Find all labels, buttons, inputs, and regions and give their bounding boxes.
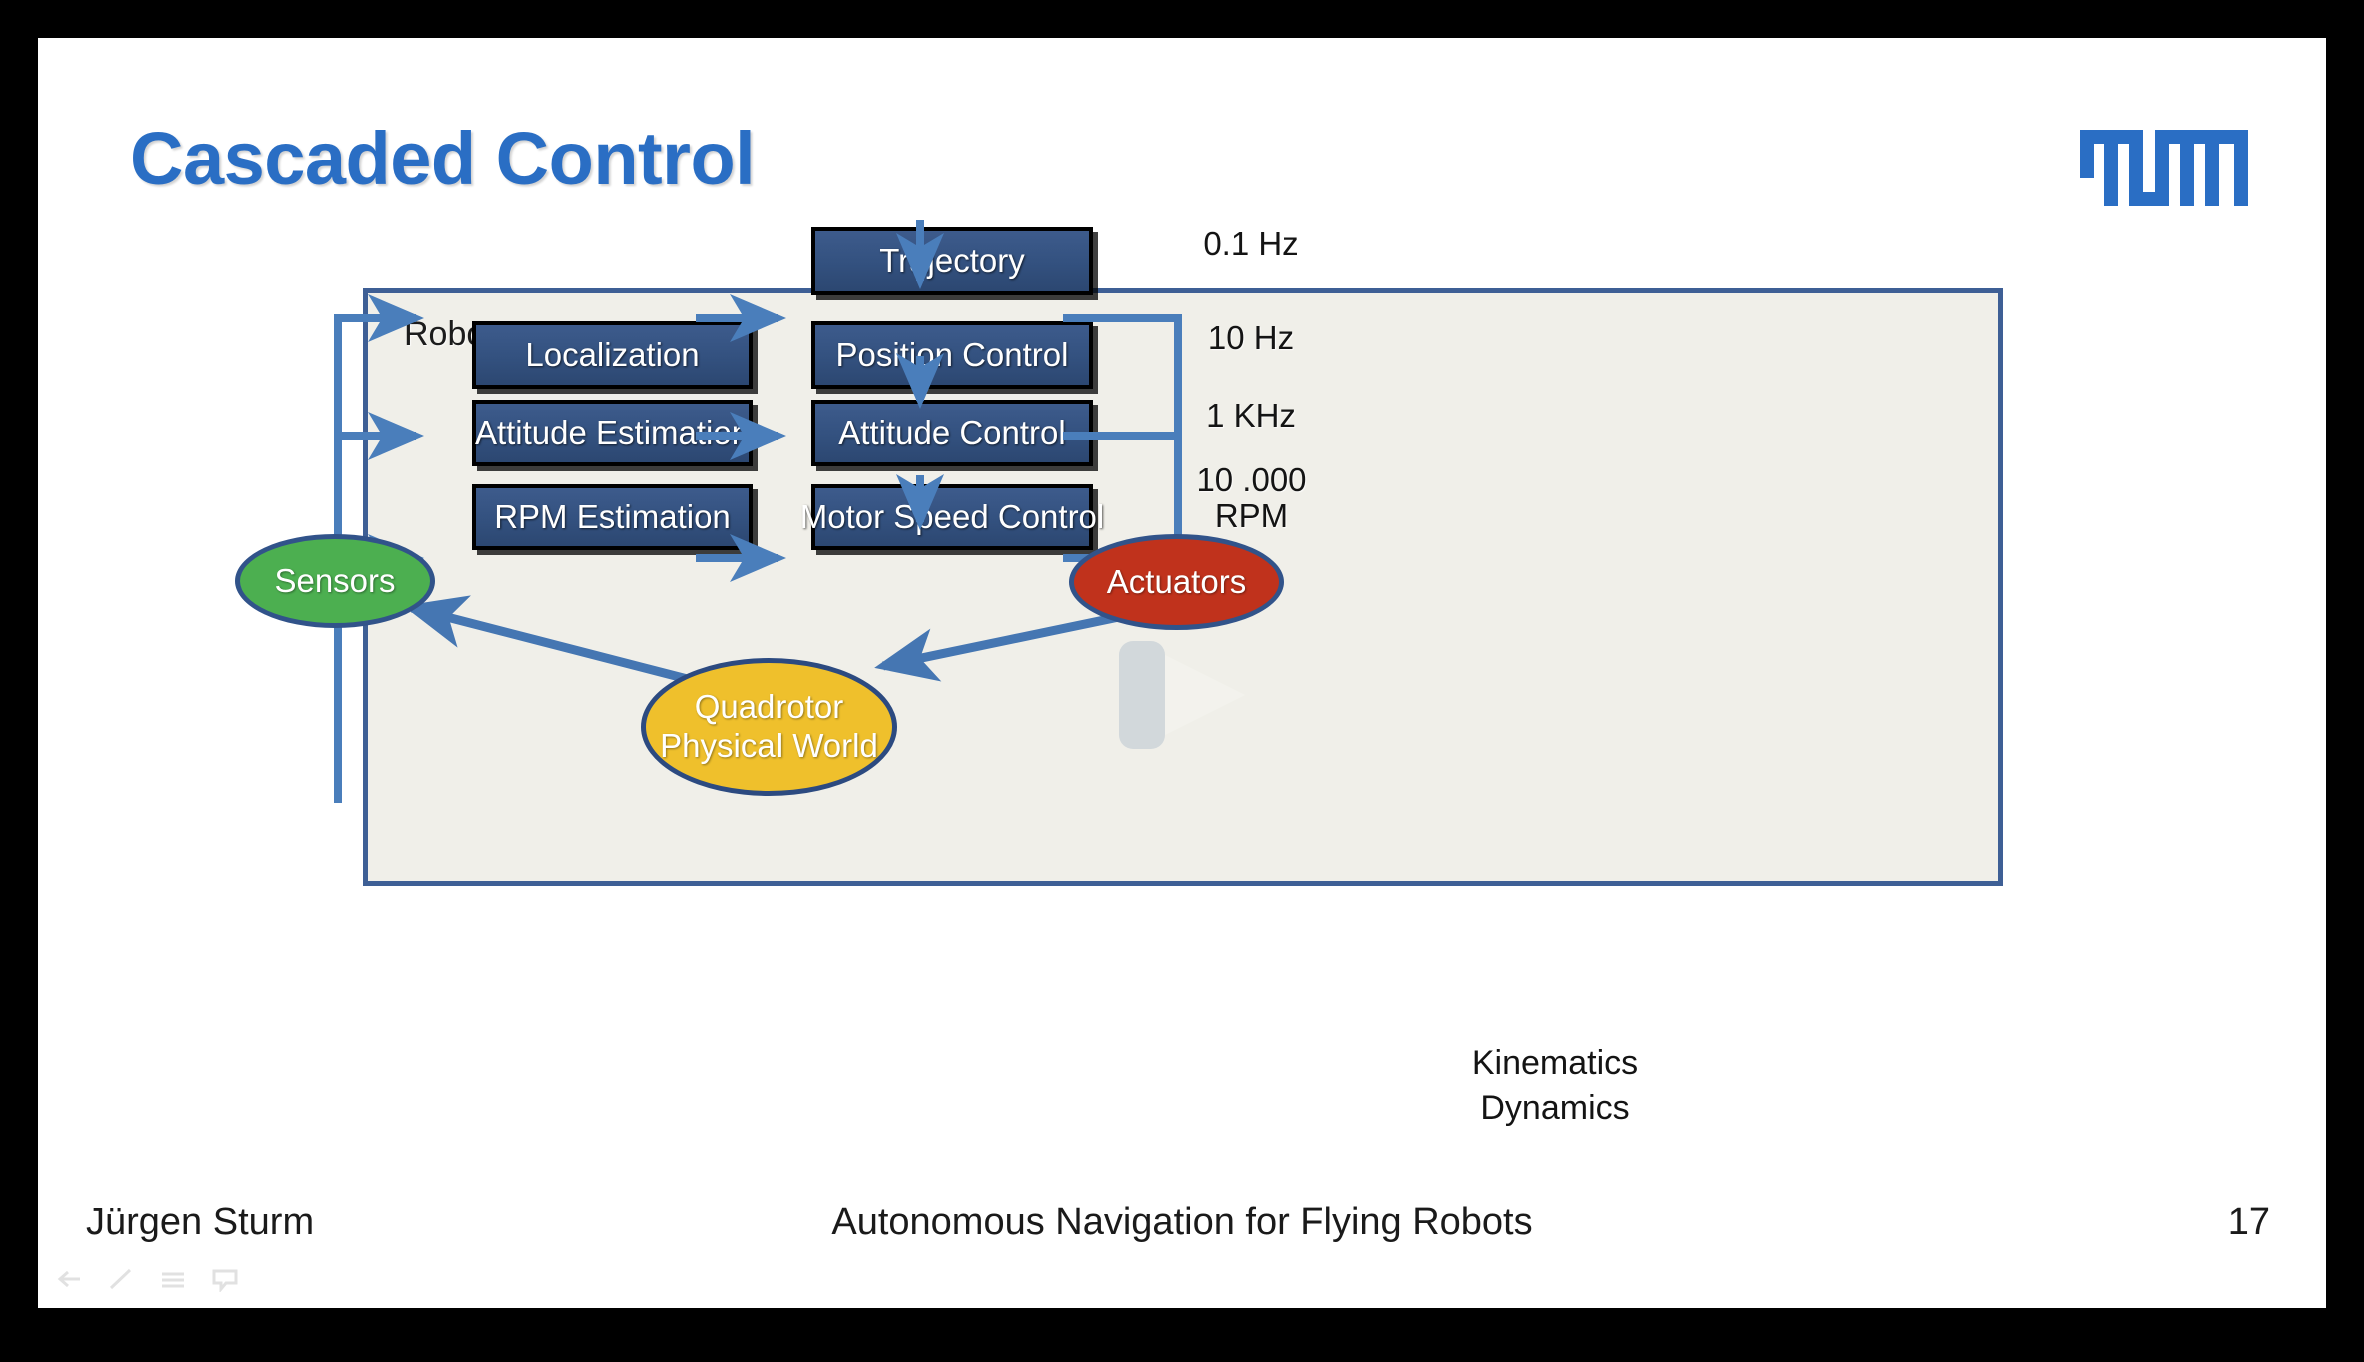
presenter-toolbar[interactable] (54, 1266, 240, 1292)
diagram-connectors (38, 38, 2326, 1308)
comment-icon[interactable] (210, 1266, 240, 1292)
pointer-icon[interactable] (54, 1266, 84, 1292)
node-label: Quadrotor Physical World (660, 688, 878, 766)
video-player-frame: Cascaded Control (0, 0, 2364, 1362)
node-quadrotor-physical-world[interactable]: Quadrotor Physical World (641, 658, 897, 796)
menu-icon[interactable] (158, 1266, 188, 1292)
node-sensors[interactable]: Sensors (235, 534, 435, 628)
presentation-slide: Cascaded Control (38, 38, 2326, 1308)
node-label: Actuators (1107, 563, 1246, 602)
pen-icon[interactable] (106, 1266, 136, 1292)
node-actuators[interactable]: Actuators (1069, 534, 1284, 630)
node-label: Sensors (274, 562, 395, 601)
